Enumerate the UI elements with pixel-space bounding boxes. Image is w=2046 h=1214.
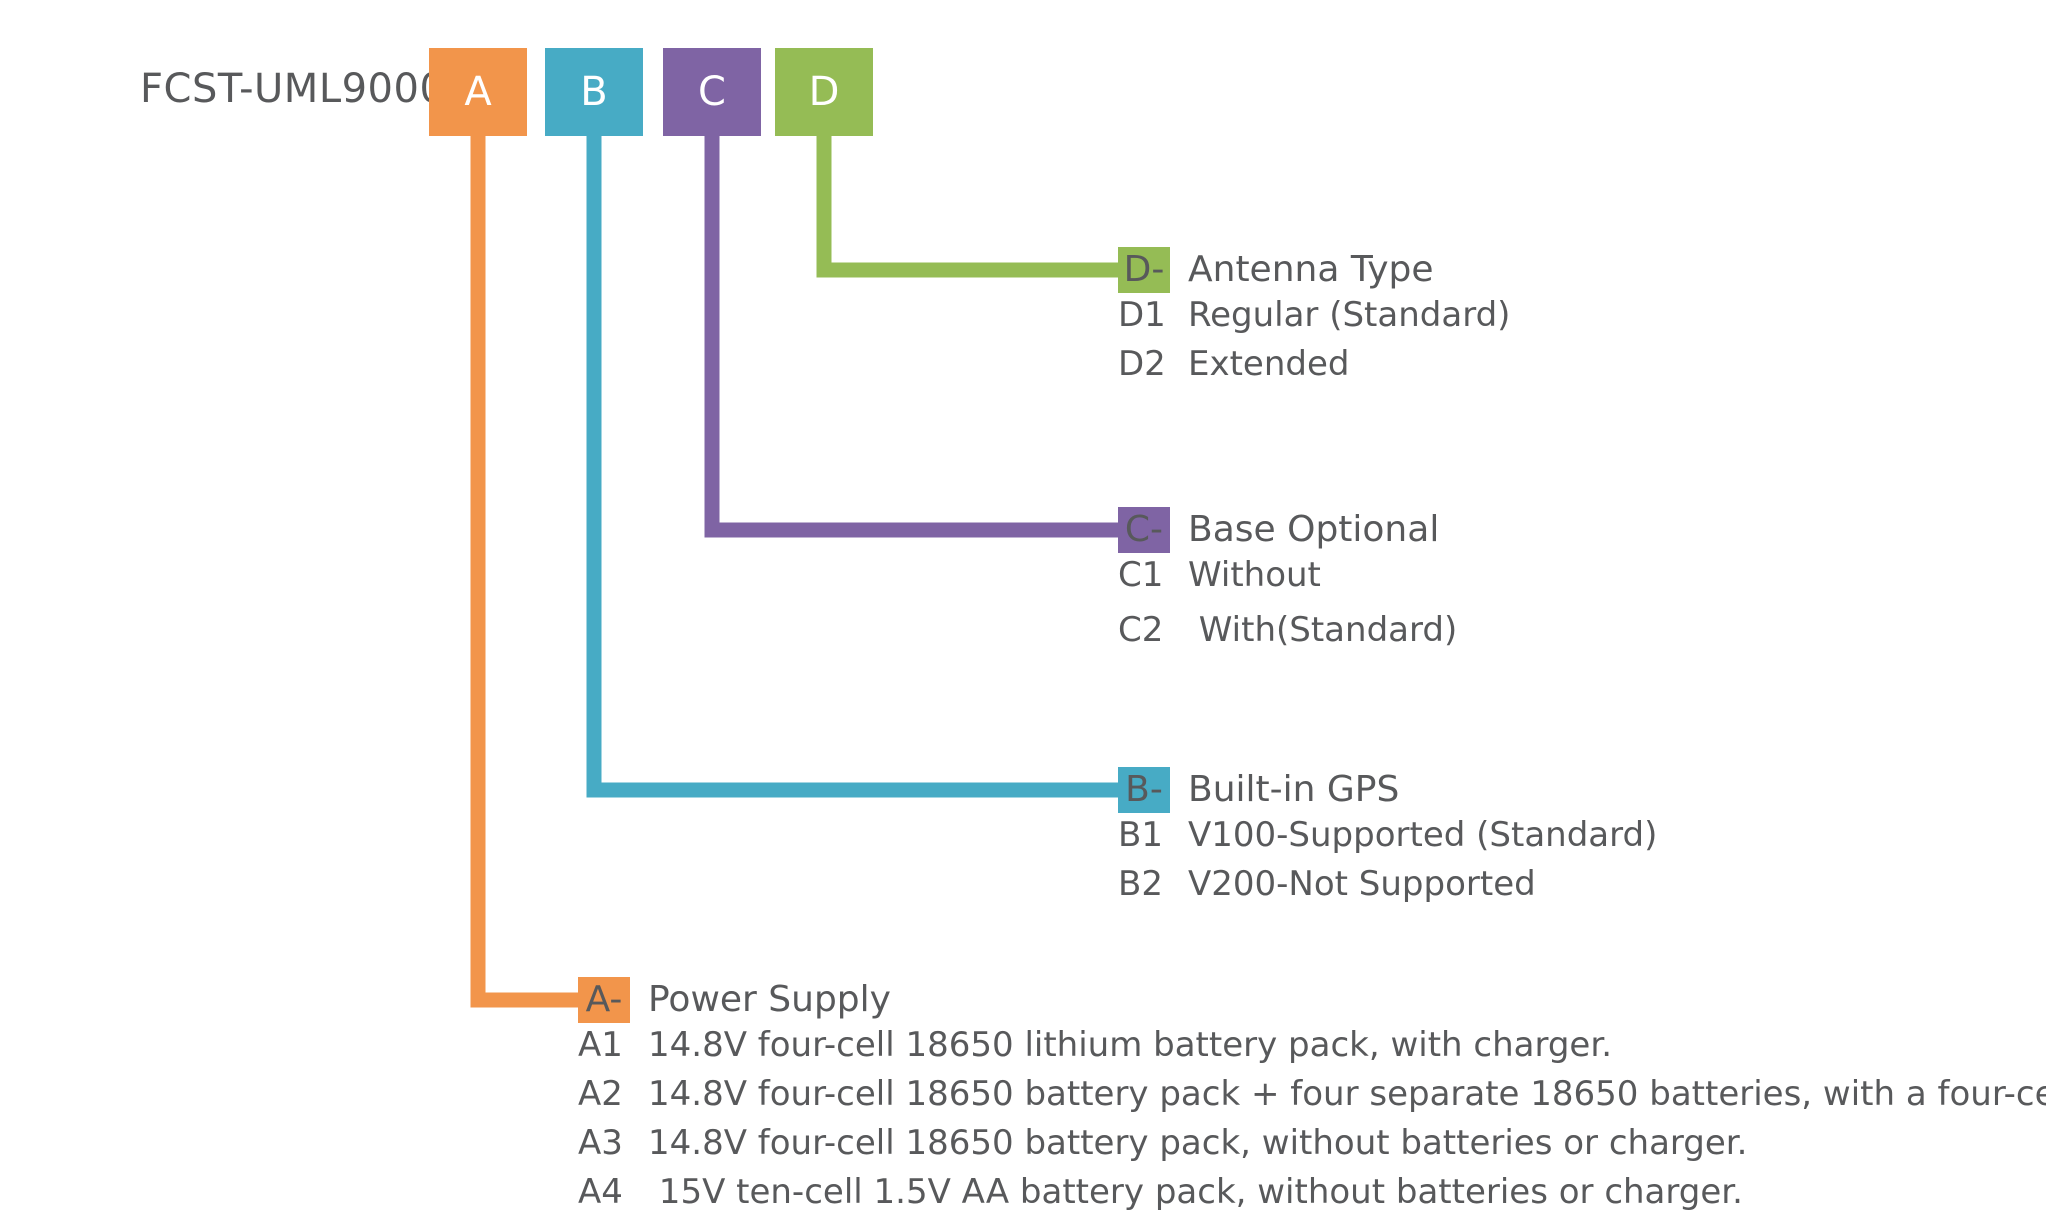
letter-box-b-label: B [580,72,607,112]
option-key-c1: C1 [1118,555,1170,595]
option-group-c-title: Base Optional [1188,512,1439,548]
chip-a: A- [578,977,630,1023]
model-code-label: FCST-UML9000-- [140,66,475,112]
option-group-d: D- Antenna Type D1 Regular (Standard) D2… [1118,247,1510,393]
option-row-b1[interactable]: B1 V100-Supported (Standard) [1118,815,1657,864]
letter-box-d-label: D [809,72,840,112]
option-key-d1: D1 [1118,295,1170,335]
option-text-d2: Extended [1188,344,1349,384]
connector-line-b [594,136,1125,790]
connector-line-d [824,136,1125,270]
option-text-d1: Regular (Standard) [1188,295,1510,335]
option-group-b-header: B- Built-in GPS [1118,767,1657,813]
connector-line-a [478,136,585,1000]
option-group-c-header: C- Base Optional [1118,507,1457,553]
option-key-b2: B2 [1118,864,1170,904]
option-row-a3[interactable]: A3 14.8V four-cell 18650 battery pack, w… [578,1123,2046,1172]
option-row-d1[interactable]: D1 Regular (Standard) [1118,295,1510,344]
option-group-c: C- Base Optional C1 Without C2 With(Stan… [1118,507,1457,659]
option-key-a1: A1 [578,1025,630,1065]
option-row-d2[interactable]: D2 Extended [1118,344,1510,393]
letter-box-c[interactable]: C [663,48,761,136]
option-row-b2[interactable]: B2 V200-Not Supported [1118,864,1657,913]
option-row-c1[interactable]: C1 Without [1118,555,1457,604]
option-group-a-title: Power Supply [648,982,891,1018]
option-row-a1[interactable]: A1 14.8V four-cell 18650 lithium battery… [578,1025,2046,1074]
option-row-a4[interactable]: A4 15V ten-cell 1.5V AA battery pack, wi… [578,1172,2046,1214]
connector-line-c [712,136,1125,530]
option-key-a3: A3 [578,1123,630,1163]
option-row-a2[interactable]: A2 14.8V four-cell 18650 battery pack + … [578,1074,2046,1123]
option-text-c2: With(Standard) [1188,610,1457,650]
option-key-b1: B1 [1118,815,1170,855]
option-group-a-header: A- Power Supply [578,977,2046,1023]
option-text-a2: 14.8V four-cell 18650 battery pack + fou… [648,1074,2046,1114]
option-text-b2: V200-Not Supported [1188,864,1536,904]
letter-box-d[interactable]: D [775,48,873,136]
product-code-breakdown-diagram: FCST-UML9000-- A B C D D- Antenna Type D… [0,0,2046,1214]
option-group-d-header: D- Antenna Type [1118,247,1510,293]
option-text-a4: 15V ten-cell 1.5V AA battery pack, witho… [648,1172,1743,1212]
chip-b: B- [1118,767,1170,813]
option-text-b1: V100-Supported (Standard) [1188,815,1657,855]
option-group-a: A- Power Supply A1 14.8V four-cell 18650… [578,977,2046,1214]
letter-box-a-label: A [464,72,491,112]
option-key-a4: A4 [578,1172,630,1212]
chip-d: D- [1118,247,1170,293]
letter-box-b[interactable]: B [545,48,643,136]
option-row-c2[interactable]: C2 With(Standard) [1118,610,1457,659]
option-key-d2: D2 [1118,344,1170,384]
option-group-d-title: Antenna Type [1188,252,1434,288]
option-group-b-title: Built-in GPS [1188,772,1399,808]
chip-c: C- [1118,507,1170,553]
option-text-c1: Without [1188,555,1321,595]
option-key-c2: C2 [1118,610,1170,650]
letter-box-a[interactable]: A [429,48,527,136]
option-group-b: B- Built-in GPS B1 V100-Supported (Stand… [1118,767,1657,913]
option-key-a2: A2 [578,1074,630,1114]
option-text-a1: 14.8V four-cell 18650 lithium battery pa… [648,1025,1612,1065]
option-text-a3: 14.8V four-cell 18650 battery pack, with… [648,1123,1747,1163]
letter-box-c-label: C [698,72,726,112]
